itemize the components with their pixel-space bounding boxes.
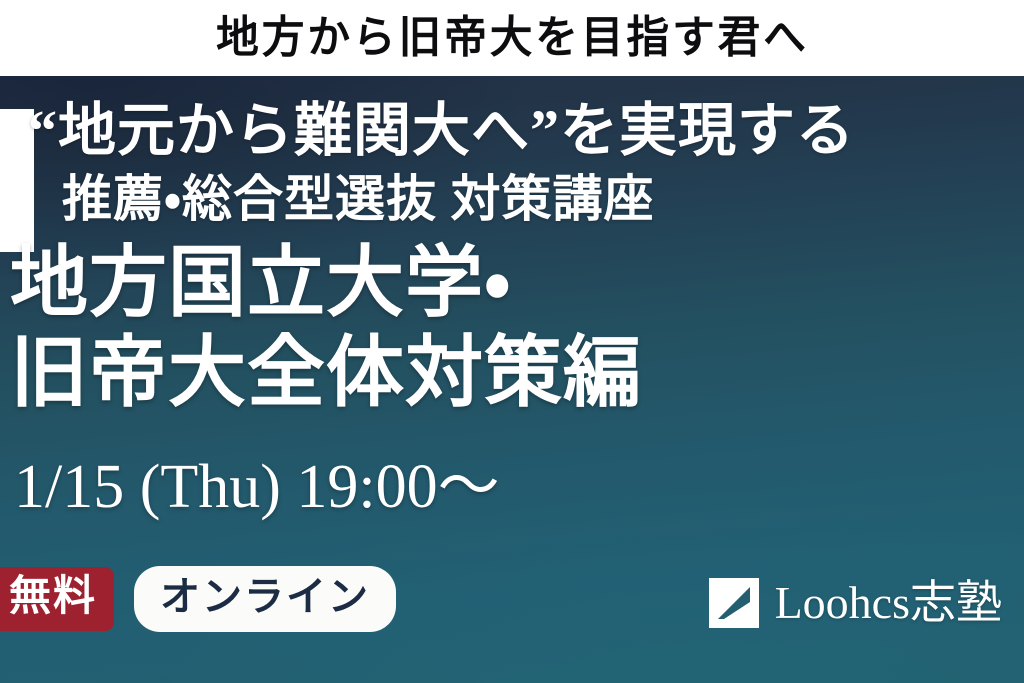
badge-row: 無料 オンライン <box>0 566 396 632</box>
top-banner: 地方から旧帝大を目指す君へ <box>0 0 1024 76</box>
brand-logo-text: Loohcs志塾 <box>775 580 1002 626</box>
hero-title-line-2: 旧帝大全体対策編 <box>10 334 642 412</box>
slash-square-icon <box>709 578 759 628</box>
top-headline: 地方から旧帝大を目指す君へ <box>216 16 809 60</box>
badge-free: 無料 <box>0 567 114 631</box>
hero-title-line-1: 地方国立大学・ <box>10 244 512 322</box>
hero-subtitle-line: 推薦・総合型選抜 対策講座 <box>62 172 655 227</box>
promo-banner: 地方から旧帝大を目指す君へ “地元から難関大へ”を実現する 推薦・総合型選抜 対… <box>0 0 1024 683</box>
hero-datetime: 1/15 (Thu) 19:00〜 <box>14 456 500 518</box>
hero-section: “地元から難関大へ”を実現する 推薦・総合型選抜 対策講座 地方国立大学・ 旧帝… <box>0 76 1024 683</box>
brand-logo: Loohcs志塾 <box>709 578 1002 628</box>
hero-quote-line: “地元から難関大へ”を実現する <box>28 100 855 163</box>
badge-online: オンライン <box>134 566 396 632</box>
